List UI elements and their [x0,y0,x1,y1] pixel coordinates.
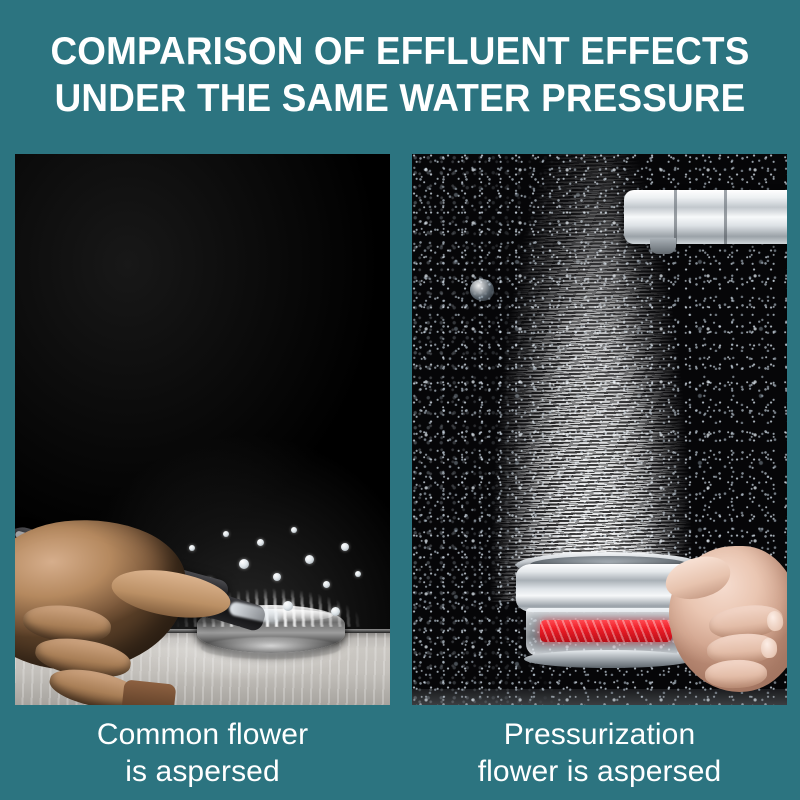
showerhead-filter-chamber [526,608,692,656]
caption-pressurization: Pressurization flower is aspersed [412,716,787,790]
water-droplet [273,573,281,581]
handle-seam [724,190,727,244]
comparison-panel-pressurization [412,154,787,705]
water-droplet [341,543,349,551]
caption-pressurization-line-2: flower is aspersed [412,753,787,790]
water-droplet [223,531,229,537]
showerhead-base-ring [524,650,694,668]
caption-common-line-2: is aspersed [15,753,390,790]
caption-common-line-1: Common flower [15,716,390,753]
water-droplet [305,555,314,564]
water-droplet [257,539,264,546]
handle-seam [674,190,677,244]
headline-line-2: UNDER THE SAME WATER PRESSURE [22,75,778,122]
water-droplet [283,601,293,611]
red-filter-beads [540,620,672,642]
pressurized-showerhead-handle [624,190,787,244]
water-droplet [239,559,249,569]
chrome-disc-rim [201,637,341,659]
water-droplet [331,607,340,616]
page-title: COMPARISON OF EFFLUENT EFFECTS UNDER THE… [22,28,778,122]
handle-knob [650,238,676,254]
comparison-panel-common [15,154,390,705]
caption-common: Common flower is aspersed [15,716,390,790]
water-droplet [323,581,330,588]
headline-line-1: COMPARISON OF EFFLUENT EFFECTS [22,28,778,75]
caption-pressurization-line-1: Pressurization [412,716,787,753]
water-droplet [189,545,195,551]
water-droplet [355,571,361,577]
product-comparison-poster: COMPARISON OF EFFLUENT EFFECTS UNDER THE… [0,0,800,800]
knuckle [122,679,177,705]
water-droplet [291,527,297,533]
